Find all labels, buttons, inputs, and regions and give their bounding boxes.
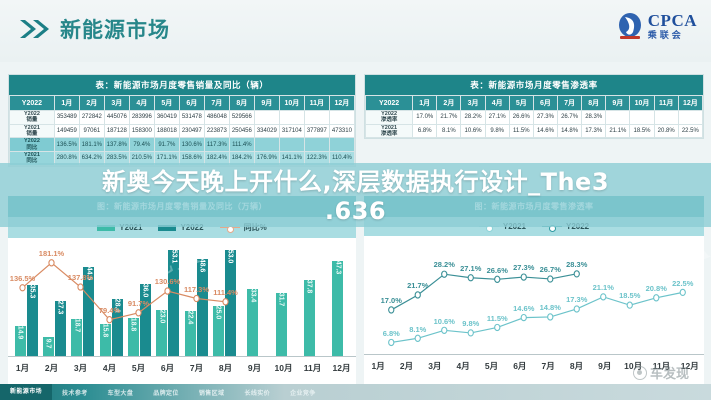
- bar-value-label: 22.4: [187, 311, 194, 325]
- table-cell: 27.3%: [533, 111, 557, 125]
- table-cell: 130.6%: [179, 138, 204, 152]
- line-value-label: 20.8%: [646, 284, 667, 293]
- table-col-header-month: 10月: [279, 96, 304, 111]
- bar: 31.7: [276, 293, 287, 356]
- cpca-sub-label: 乘联会: [648, 31, 697, 40]
- table-cell: 486048: [204, 111, 229, 125]
- line-value-label: 28.2%: [434, 260, 455, 269]
- table-cell: 223873: [204, 124, 229, 138]
- line-value-label: 26.6%: [487, 266, 508, 275]
- line-marker: [389, 339, 394, 345]
- x-axis-tick: 4月: [95, 357, 124, 378]
- line-marker: [415, 335, 420, 341]
- table-col-header-month: 3月: [104, 96, 129, 111]
- table-cell: [304, 138, 329, 152]
- bar-value-label: 33.4: [249, 289, 256, 303]
- bottom-nav-tab[interactable]: 长线实价: [234, 388, 280, 397]
- table-col-header-month: 8月: [229, 96, 254, 111]
- line-marker: [521, 314, 526, 320]
- table-cell: [254, 138, 279, 152]
- bar-value-label: 53.0: [227, 250, 234, 264]
- table-row-label: Y2021渗透率: [366, 124, 413, 138]
- table-col-header-month: 6月: [179, 96, 204, 111]
- bar-value-label: 47.3: [334, 261, 341, 275]
- line-marker: [627, 302, 632, 308]
- table-col-header-month: 1月: [413, 96, 437, 111]
- table-col-header-month: 7月: [558, 96, 582, 111]
- weibo-watermark: 车发现: [633, 363, 689, 382]
- cpca-emblem-icon: [617, 12, 643, 40]
- watermark-text: 新奥今天晚上开什么,深层数据执行设计_The3 .636: [0, 168, 711, 226]
- x-axis-tick: 2月: [392, 355, 420, 376]
- bar: 28.4: [112, 299, 123, 356]
- x-axis-tick: 1月: [364, 355, 392, 376]
- table-row-label: Y2022渗透率: [366, 111, 413, 125]
- line-marker: [654, 295, 659, 301]
- table-header-row: Y20221月2月3月4月5月6月7月8月9月10月11月12月: [10, 96, 355, 111]
- table-cell: 26.6%: [509, 111, 533, 125]
- table-cell: 28.2%: [461, 111, 485, 125]
- table-col-header-rowlabel: Y2022: [366, 96, 413, 111]
- table-cell: 20.8%: [654, 124, 678, 138]
- table-row: Y2021销量149459970611871281583001880182304…: [10, 124, 355, 138]
- bar-series-container: 14.935.39.727.318.744.515.828.418.836.02…: [12, 242, 352, 356]
- line-marker: [415, 292, 420, 298]
- x-axis-tick: 6月: [506, 355, 534, 376]
- table-cell: 8.1%: [437, 124, 461, 138]
- bar-group: 9.727.3: [40, 242, 68, 356]
- table-col-header-month: 5月: [154, 96, 179, 111]
- x-axis-tick: 4月: [449, 355, 477, 376]
- table-cell: 97061: [79, 124, 104, 138]
- table-cell: 377897: [304, 124, 329, 138]
- table-cell: [304, 111, 329, 125]
- table-cell: [630, 111, 654, 125]
- bar: 33.4: [247, 289, 258, 356]
- line-value-label: 8.1%: [409, 325, 426, 334]
- line-marker: [495, 324, 500, 330]
- line-value-label: 11.5%: [487, 314, 508, 323]
- weibo-label: 车发现: [650, 363, 689, 382]
- watermark-line-1: 新奥今天晚上开什么,深层数据执行设计_The3: [0, 168, 711, 197]
- line-marker: [680, 289, 685, 295]
- bar-value-label: 23.0: [158, 310, 165, 324]
- plot-area: 14.935.39.727.318.744.515.828.418.836.02…: [8, 238, 356, 378]
- bar-value-label: 36.0: [142, 284, 149, 298]
- bar: 35.3: [27, 285, 38, 356]
- table-cell: 11.5%: [509, 124, 533, 138]
- table-row-label: Y2021销量: [10, 124, 55, 138]
- bottom-nav: 新能源市场技术参考车型大盘品牌定位销售区域长线实价企业竞争: [0, 384, 711, 400]
- table-row: Y2022同比136.5%181.1%137.8%79.4%91.7%130.6…: [10, 138, 355, 152]
- bar-value-label: 18.7: [73, 318, 80, 332]
- bar-value-label: 15.8: [102, 324, 109, 338]
- line-marker: [389, 307, 394, 313]
- cpca-logo: CPCA 乘联会: [617, 12, 697, 40]
- table-caption: 表：新能源市场月度零售渗透率: [365, 75, 703, 95]
- table-col-header-month: 9月: [606, 96, 630, 111]
- bar-group: 18.744.5: [69, 242, 97, 356]
- line-value-label: 26.7%: [540, 265, 561, 274]
- table-col-header-month: 4月: [485, 96, 509, 111]
- bar: 23.0: [156, 310, 167, 356]
- x-axis: 1月2月3月4月5月6月7月8月9月10月11月12月: [8, 356, 356, 378]
- x-axis-tick: 8月: [562, 355, 590, 376]
- table-cell: 531478: [179, 111, 204, 125]
- table-cell: 317104: [279, 124, 304, 138]
- page-title: 新能源市场: [60, 14, 170, 44]
- line-value-label: 17.3%: [566, 295, 587, 304]
- table-cell: 445076: [104, 111, 129, 125]
- penetration-table: 表：新能源市场月度零售渗透率 Y20221月2月3月4月5月6月7月8月9月10…: [364, 74, 704, 139]
- bar-group: 18.836.0: [125, 242, 153, 356]
- bar: 36.0: [140, 284, 151, 356]
- bar-value-label: 14.9: [17, 326, 24, 340]
- table-cell: 18.5%: [630, 124, 654, 138]
- line-value-label: 18.5%: [619, 291, 640, 300]
- table-cell: 10.6%: [461, 124, 485, 138]
- bar: 53.0: [225, 250, 236, 356]
- line-marker: [442, 327, 447, 333]
- bottom-nav-tab[interactable]: 车型大盘: [98, 388, 144, 397]
- table-col-header-rowlabel: Y2022: [10, 96, 55, 111]
- x-axis-tick: 5月: [477, 355, 505, 376]
- table-col-header-month: 2月: [437, 96, 461, 111]
- line-value-label: 17.0%: [381, 296, 402, 305]
- table-row-label: Y2022同比: [10, 138, 55, 152]
- table-col-header-month: 5月: [509, 96, 533, 111]
- table-col-header-month: 3月: [461, 96, 485, 111]
- table-cell: 188018: [154, 124, 179, 138]
- table-cell: 334029: [254, 124, 279, 138]
- line-marker: [521, 274, 526, 280]
- table: Y20221月2月3月4月5月6月7月8月9月10月11月12月 Y2022销量…: [9, 95, 355, 166]
- line-marker: [468, 330, 473, 336]
- table-col-header-month: 6月: [533, 96, 557, 111]
- bar-value-label: 27.3: [57, 301, 64, 315]
- table-cell: 17.3%: [582, 124, 606, 138]
- x-axis-tick: 11月: [298, 357, 327, 378]
- line-value-label: 14.6%: [513, 304, 534, 313]
- table-cell: 26.7%: [558, 111, 582, 125]
- line-value-label: 27.3%: [513, 263, 534, 272]
- bar-value-label: 37.8: [306, 280, 313, 294]
- table-cell: 9.8%: [485, 124, 509, 138]
- table-cell: [678, 111, 702, 125]
- bar: 25.0: [213, 306, 224, 356]
- line-value-label: 14.8%: [540, 303, 561, 312]
- bar-group: 15.828.4: [97, 242, 125, 356]
- bar: 14.9: [15, 326, 26, 356]
- line-marker: [548, 314, 553, 320]
- bar-group: 31.7: [267, 242, 295, 356]
- table-col-header-month: 12月: [678, 96, 702, 111]
- bar: 44.5: [83, 267, 94, 356]
- table-cell: 14.6%: [533, 124, 557, 138]
- bottom-nav-tab[interactable]: 新能源市场: [0, 384, 52, 400]
- table-cell: 111.4%: [229, 138, 254, 152]
- table-cell: 283996: [129, 111, 154, 125]
- bar: 47.3: [332, 261, 343, 356]
- table-cell: 137.8%: [104, 138, 129, 152]
- bar-value-label: 53.1: [170, 250, 177, 264]
- table-col-header-month: 10月: [630, 96, 654, 111]
- line-marker: [468, 275, 473, 281]
- x-axis-tick: 3月: [421, 355, 449, 376]
- table-cell: [279, 111, 304, 125]
- table-cell: 272842: [79, 111, 104, 125]
- watermark-line-2: .636: [0, 197, 711, 226]
- cpca-wordmark: CPCA: [648, 12, 697, 29]
- line-marker: [495, 276, 500, 282]
- bottom-nav-tab[interactable]: 品牌定位: [143, 388, 189, 397]
- table-cell: 250456: [229, 124, 254, 138]
- bottom-nav-tab[interactable]: 销售区域: [189, 388, 235, 397]
- table-cell: [279, 138, 304, 152]
- table-cell: 79.4%: [129, 138, 154, 152]
- brand-block: 新能源市场: [18, 14, 170, 44]
- bottom-nav-tab[interactable]: 技术参考: [52, 388, 98, 397]
- table-col-header-month: 7月: [204, 96, 229, 111]
- table-cell: [329, 111, 354, 125]
- x-axis-tick: 3月: [66, 357, 95, 378]
- table-cell: 230497: [179, 124, 204, 138]
- table-cell: 473310: [329, 124, 354, 138]
- page-header: 新能源市场 CPCA 乘联会: [0, 0, 711, 62]
- bar-group: 22.448.6: [182, 242, 210, 356]
- bar: 15.8: [100, 324, 111, 356]
- table-cell: 529566: [229, 111, 254, 125]
- table-col-header-month: 8月: [582, 96, 606, 111]
- table-cell: [329, 138, 354, 152]
- table-cell: 91.7%: [154, 138, 179, 152]
- table-cell: 181.1%: [79, 138, 104, 152]
- table-caption: 表：新能源市场月度零售销量及同比（辆）: [9, 75, 355, 95]
- line-marker: [548, 276, 553, 282]
- line-value-label: 21.1%: [593, 283, 614, 292]
- table-cell: 21.7%: [437, 111, 461, 125]
- retail-sales-table: 表：新能源市场月度零售销量及同比（辆） Y20221月2月3月4月5月6月7月8…: [8, 74, 356, 167]
- double-chevron-right-icon: [18, 18, 52, 40]
- line-value-label: 9.8%: [462, 319, 479, 328]
- line-marker: [574, 271, 579, 277]
- bar-group: 47.3: [324, 242, 352, 356]
- bar-group: 14.935.3: [12, 242, 40, 356]
- table-cell: 136.5%: [54, 138, 79, 152]
- legend-line-icon: [220, 227, 240, 228]
- table-row-label: Y2022销量: [10, 111, 55, 125]
- table-cell: 14.8%: [558, 124, 582, 138]
- bar-value-label: 25.0: [215, 306, 222, 320]
- table-cell: 28.3%: [582, 111, 606, 125]
- bar-value-label: 28.4: [114, 299, 121, 313]
- table-cell: 187128: [104, 124, 129, 138]
- table-cell: 360419: [154, 111, 179, 125]
- table-cell: 117.3%: [204, 138, 229, 152]
- bar-value-label: 18.8: [130, 318, 137, 332]
- table-cell: 353489: [54, 111, 79, 125]
- x-axis-tick: 9月: [240, 357, 269, 378]
- table-col-header-month: 11月: [654, 96, 678, 111]
- table-cell: 27.1%: [485, 111, 509, 125]
- table-col-header-month: 4月: [129, 96, 154, 111]
- table-cell: 21.1%: [606, 124, 630, 138]
- x-axis-tick: 7月: [534, 355, 562, 376]
- line-marker: [442, 271, 447, 277]
- bar: 27.3: [55, 301, 66, 356]
- bar-value-label: 35.3: [29, 285, 36, 299]
- table-cell: 17.0%: [413, 111, 437, 125]
- line-path: [391, 274, 577, 310]
- line-value-label: 10.6%: [434, 317, 455, 326]
- line-value-label: 27.1%: [460, 264, 481, 273]
- bar-value-label: 31.7: [278, 292, 285, 306]
- bar-group: 23.053.1: [154, 242, 182, 356]
- table-cell: 6.8%: [413, 124, 437, 138]
- x-axis-tick: 12月: [327, 357, 356, 378]
- plot-area: 6.8%8.1%10.6%9.8%11.5%14.6%14.8%17.3%21.…: [364, 236, 704, 376]
- bar: 22.4: [185, 311, 196, 356]
- table-cell: [254, 111, 279, 125]
- x-axis-tick: 2月: [37, 357, 66, 378]
- bar: 9.7: [43, 337, 54, 356]
- table-cell: 22.5%: [678, 124, 702, 138]
- bottom-nav-tab[interactable]: 企业竞争: [280, 388, 326, 397]
- bar-group: 25.053.0: [210, 242, 238, 356]
- x-axis-tick: 8月: [211, 357, 240, 378]
- table-cell: [654, 111, 678, 125]
- table-row: Y2021渗透率6.8%8.1%10.6%9.8%11.5%14.6%14.8%…: [366, 124, 703, 138]
- table-col-header-month: 2月: [79, 96, 104, 111]
- x-axis-tick: 6月: [153, 357, 182, 378]
- x-axis-tick: 5月: [124, 357, 153, 378]
- line-path: [391, 292, 683, 342]
- bar-value-label: 9.7: [45, 338, 52, 348]
- line-marker: [574, 306, 579, 312]
- bar: 18.7: [71, 319, 82, 356]
- x-axis-tick: 7月: [182, 357, 211, 378]
- table-header-row: Y20221月2月3月4月5月6月7月8月9月10月11月12月: [366, 96, 703, 111]
- table-col-header-month: 12月: [329, 96, 354, 111]
- table-col-header-month: 11月: [304, 96, 329, 111]
- screenshot-root: 新能源市场 CPCA 乘联会 表：新能源市场月度零售销量及同比（辆） Y2022…: [0, 0, 711, 400]
- line-value-label: 28.3%: [566, 260, 587, 269]
- bar: 53.1: [168, 250, 179, 356]
- bar: 37.8: [304, 280, 315, 356]
- table-cell: [606, 111, 630, 125]
- table-body: Y2022渗透率17.0%21.7%28.2%27.1%26.6%27.3%26…: [366, 111, 703, 138]
- table-cell: 149459: [54, 124, 79, 138]
- line-value-label: 22.5%: [672, 279, 693, 288]
- table-body: Y2022销量353489272842445076283996360419531…: [10, 111, 355, 166]
- table: Y20221月2月3月4月5月6月7月8月9月10月11月12月 Y2022渗透…: [365, 95, 703, 138]
- bar-value-label: 48.6: [199, 259, 206, 273]
- bar-value-label: 44.5: [85, 267, 92, 281]
- table-row: Y2022销量353489272842445076283996360419531…: [10, 111, 355, 125]
- line-marker: [601, 294, 606, 300]
- table-row: Y2022渗透率17.0%21.7%28.2%27.1%26.6%27.3%26…: [366, 111, 703, 125]
- table-cell: 158300: [129, 124, 154, 138]
- weibo-eye-icon: [633, 366, 647, 380]
- x-axis-tick: 1月: [8, 357, 37, 378]
- bar: 48.6: [197, 259, 208, 356]
- table-col-header-month: 9月: [254, 96, 279, 111]
- table-col-header-month: 1月: [54, 96, 79, 111]
- x-axis-tick: 10月: [269, 357, 298, 378]
- bar-group: 33.4: [239, 242, 267, 356]
- line-value-label: 21.7%: [407, 281, 428, 290]
- x-axis-tick: 9月: [591, 355, 619, 376]
- line-value-label: 6.8%: [383, 329, 400, 338]
- bar: 18.8: [128, 318, 139, 356]
- bar-group: 37.8: [295, 242, 323, 356]
